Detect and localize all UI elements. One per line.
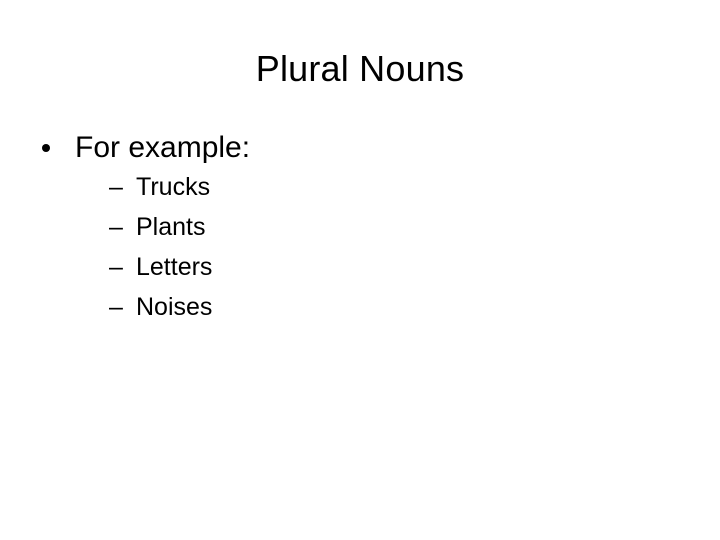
list-item: – Trucks: [75, 167, 684, 207]
dash-marker-icon: –: [109, 167, 127, 207]
bullet-list-level-2: – Trucks – Plants – Letters – Noises: [75, 167, 684, 327]
bullet-label: For example:: [75, 131, 250, 164]
dash-marker-icon: –: [109, 287, 127, 327]
list-item: For example: – Trucks – Plants – Letters: [36, 130, 684, 327]
bullet-dot-icon: [42, 144, 50, 152]
slide-canvas: Plural Nouns For example: – Trucks – Pla…: [0, 0, 720, 540]
page-title: Plural Nouns: [0, 48, 720, 90]
sub-bullet-label: Trucks: [136, 173, 210, 201]
sub-bullet-label: Noises: [136, 293, 212, 321]
slide-body: For example: – Trucks – Plants – Letters: [36, 130, 684, 331]
list-item: – Letters: [75, 247, 684, 287]
sub-bullet-label: Plants: [136, 213, 205, 241]
dash-marker-icon: –: [109, 247, 127, 287]
dash-marker-icon: –: [109, 207, 127, 247]
bullet-list-level-1: For example: – Trucks – Plants – Letters: [36, 130, 684, 327]
list-item: – Plants: [75, 207, 684, 247]
sub-bullet-label: Letters: [136, 253, 212, 281]
list-item: – Noises: [75, 287, 684, 327]
